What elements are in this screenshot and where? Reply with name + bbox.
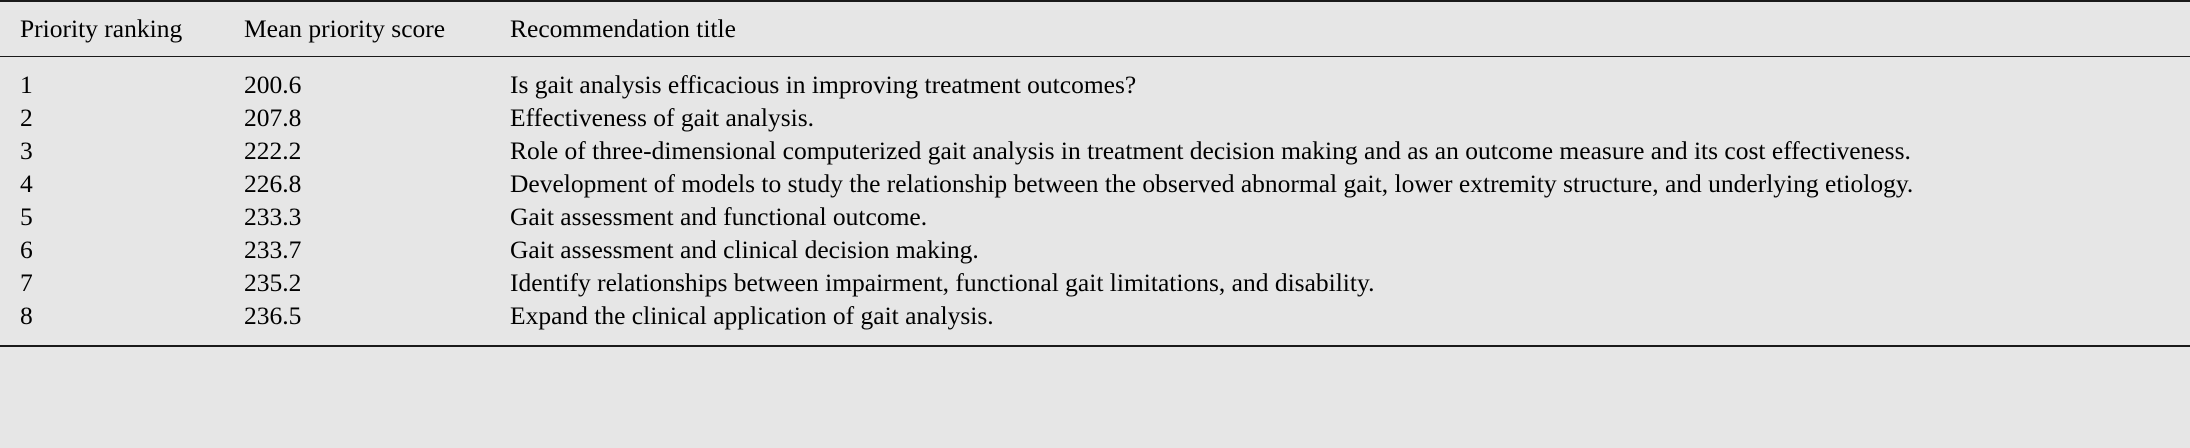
cell-priority-ranking: 1 (0, 56, 242, 101)
table-body: 1200.6Is gait analysis efficacious in im… (0, 56, 2190, 346)
table-row: 3222.2Role of three-dimensional computer… (0, 134, 2190, 167)
column-header-mean-priority-score: Mean priority score (242, 1, 508, 56)
cell-priority-ranking: 3 (0, 134, 242, 167)
table-row: 7235.2Identify relationships between imp… (0, 266, 2190, 299)
cell-mean-priority-score: 235.2 (242, 266, 508, 299)
cell-recommendation-title: Gait assessment and clinical decision ma… (508, 233, 2190, 266)
table-row: 5233.3Gait assessment and functional out… (0, 200, 2190, 233)
cell-recommendation-title: Expand the clinical application of gait … (508, 299, 2190, 346)
column-header-recommendation-title: Recommendation title (508, 1, 2190, 56)
cell-priority-ranking: 7 (0, 266, 242, 299)
cell-priority-ranking: 4 (0, 167, 242, 200)
priority-ranking-table: Priority ranking Mean priority score Rec… (0, 0, 2190, 347)
table-row: 2207.8Effectiveness of gait analysis. (0, 101, 2190, 134)
cell-recommendation-title: Is gait analysis efficacious in improvin… (508, 56, 2190, 101)
cell-recommendation-title: Gait assessment and functional outcome. (508, 200, 2190, 233)
cell-recommendation-title: Role of three-dimensional computerized g… (508, 134, 2190, 167)
table-row: 1200.6Is gait analysis efficacious in im… (0, 56, 2190, 101)
cell-priority-ranking: 2 (0, 101, 242, 134)
cell-mean-priority-score: 207.8 (242, 101, 508, 134)
cell-recommendation-title: Effectiveness of gait analysis. (508, 101, 2190, 134)
table-row: 6233.7Gait assessment and clinical decis… (0, 233, 2190, 266)
cell-mean-priority-score: 226.8 (242, 167, 508, 200)
table-row: 8236.5Expand the clinical application of… (0, 299, 2190, 346)
cell-mean-priority-score: 233.3 (242, 200, 508, 233)
cell-mean-priority-score: 236.5 (242, 299, 508, 346)
cell-mean-priority-score: 200.6 (242, 56, 508, 101)
column-header-priority-ranking: Priority ranking (0, 1, 242, 56)
cell-priority-ranking: 8 (0, 299, 242, 346)
table-header-row: Priority ranking Mean priority score Rec… (0, 1, 2190, 56)
cell-recommendation-title: Development of models to study the relat… (508, 167, 2190, 200)
cell-priority-ranking: 5 (0, 200, 242, 233)
cell-mean-priority-score: 233.7 (242, 233, 508, 266)
cell-mean-priority-score: 222.2 (242, 134, 508, 167)
cell-priority-ranking: 6 (0, 233, 242, 266)
cell-recommendation-title: Identify relationships between impairmen… (508, 266, 2190, 299)
table-row: 4226.8Development of models to study the… (0, 167, 2190, 200)
table-container: Priority ranking Mean priority score Rec… (0, 0, 2190, 448)
table-header: Priority ranking Mean priority score Rec… (0, 1, 2190, 56)
